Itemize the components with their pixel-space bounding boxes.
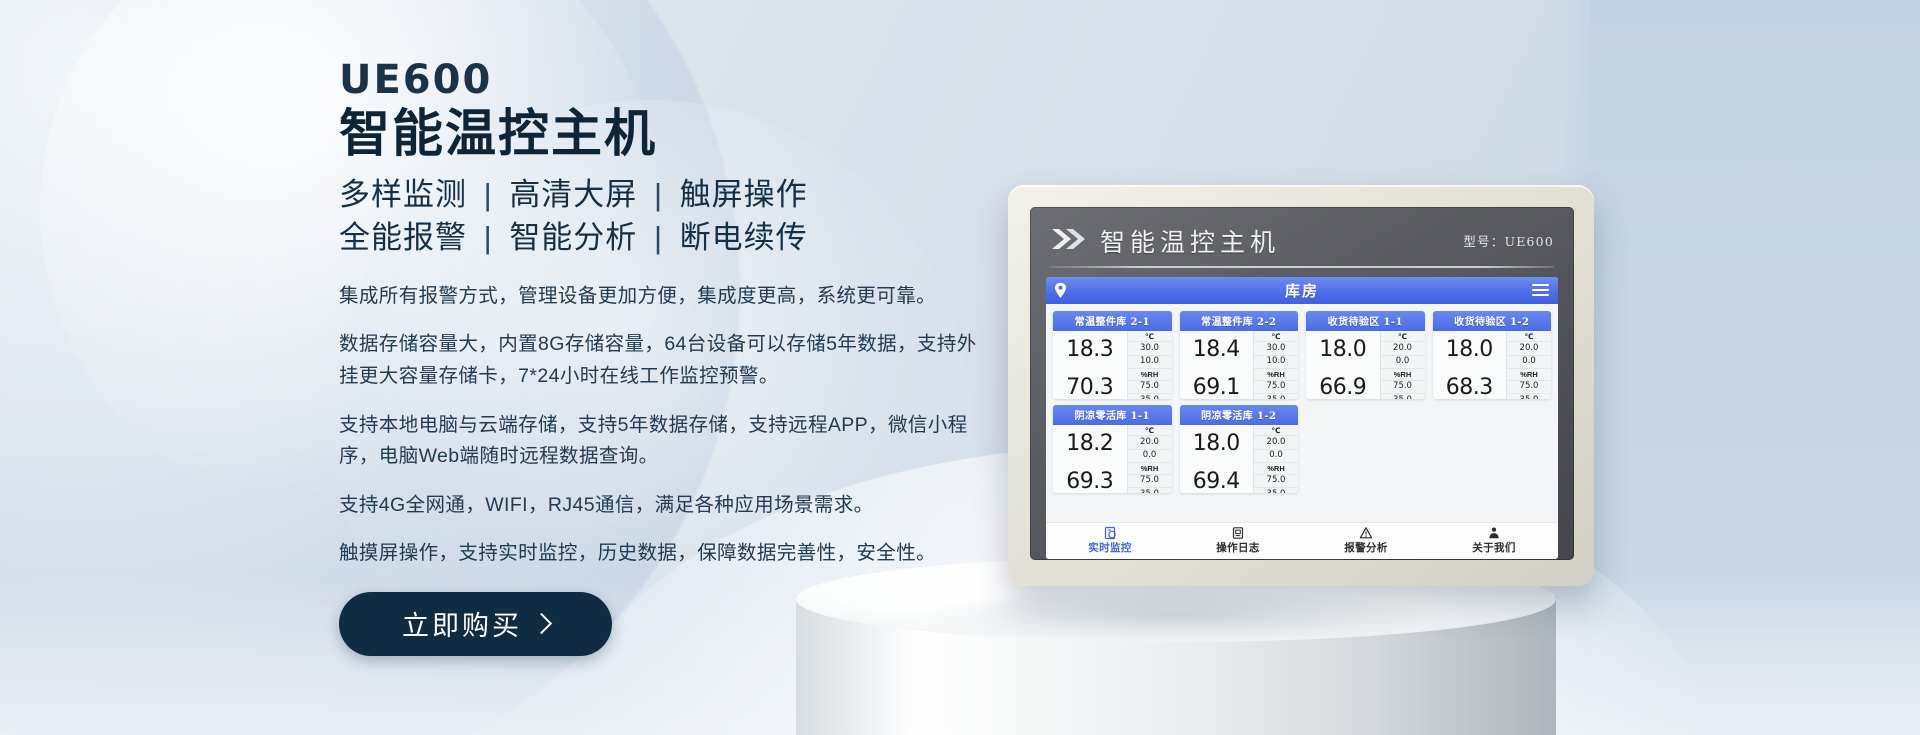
humidity-high-limit: 75.0 — [1507, 381, 1551, 394]
sensor-card-body: 18.469.1℃30.010.0%RH75.035.0 — [1180, 331, 1299, 399]
feature-separator: | — [477, 177, 500, 212]
copy-block: UE600 智能温控主机 多样监测 | 高清大屏 | 触屏操作 全能报警 | 智… — [339, 60, 1019, 656]
humidity-unit: %RH — [1381, 369, 1425, 380]
sensor-readings: 18.469.1 — [1180, 331, 1254, 399]
device-brand-title: 智能温控主机 — [1100, 223, 1280, 259]
sensor-card-body: 18.269.3℃20.00.0%RH75.035.0 — [1053, 425, 1172, 493]
sensor-card[interactable]: 常温整件库 2-118.370.3℃30.010.0%RH75.035.011-… — [1053, 311, 1172, 399]
temperature-unit: ℃ — [1128, 425, 1172, 436]
humidity-unit: %RH — [1507, 369, 1551, 380]
feature-separator: | — [647, 220, 670, 255]
humidity-low-limit: 35.0 — [1254, 488, 1298, 492]
sensor-card[interactable]: 收货待验区 1-118.066.9℃20.00.0%RH75.035.011-0… — [1306, 311, 1425, 399]
app-bar: 库房 — [1046, 277, 1558, 304]
temperature-unit: ℃ — [1254, 425, 1298, 436]
temperature-value: 18.3 — [1053, 331, 1127, 369]
sensor-limits: ℃20.00.0%RH75.035.0 — [1253, 425, 1298, 493]
humidity-high-limit: 75.0 — [1254, 381, 1298, 394]
sensor-limits: ℃20.00.0%RH75.035.0 — [1127, 425, 1172, 493]
humidity-value: 69.3 — [1053, 463, 1127, 493]
description-list: 集成所有报警方式，管理设备更加方便，集成度更高，系统更可靠。 数据存储容量大，内… — [339, 281, 1019, 570]
device-model-label: 型号： — [1463, 234, 1504, 249]
tab-label: 实时监控 — [1088, 540, 1132, 555]
chevron-right-icon — [531, 613, 552, 634]
humidity-low-limit: 35.0 — [1507, 394, 1551, 398]
device-model-value: UE600 — [1504, 234, 1554, 249]
temperature-high-limit: 30.0 — [1128, 342, 1172, 355]
humidity-high-limit: 75.0 — [1381, 381, 1425, 394]
sensor-limits: ℃20.00.0%RH75.035.0 — [1506, 331, 1551, 399]
sensor-card-body: 18.068.3℃20.00.0%RH75.035.0 — [1433, 331, 1552, 399]
humidity-low-limit: 35.0 — [1128, 488, 1172, 492]
temperature-unit: ℃ — [1507, 331, 1551, 342]
temperature-unit: ℃ — [1381, 331, 1425, 342]
buy-now-button[interactable]: 立即购买 — [339, 592, 612, 656]
tab-label: 操作日志 — [1216, 540, 1260, 555]
temperature-low-limit: 0.0 — [1381, 356, 1425, 369]
location-pin-icon — [1054, 282, 1067, 299]
humidity-unit: %RH — [1128, 463, 1172, 474]
buy-now-button-label: 立即购买 — [402, 604, 522, 643]
sensor-readings: 18.068.3 — [1433, 331, 1507, 399]
list-menu-icon[interactable] — [1532, 284, 1549, 297]
sensor-card[interactable]: 收货待验区 1-218.068.3℃20.00.0%RH75.035.011-0… — [1433, 311, 1552, 399]
feature-separator: | — [647, 177, 670, 212]
monitor-icon — [1103, 526, 1117, 539]
humidity-high-limit: 75.0 — [1128, 475, 1172, 488]
device-header: 智能温控主机 型号：UE600 — [1046, 221, 1558, 259]
humidity-low-limit: 35.0 — [1381, 394, 1425, 398]
log-book-icon — [1231, 526, 1245, 539]
temperature-high-limit: 20.0 — [1254, 436, 1298, 449]
sensor-card-title: 阴凉零活库 1-2 — [1180, 405, 1299, 426]
humidity-unit: %RH — [1254, 369, 1298, 380]
humidity-high-limit: 75.0 — [1128, 381, 1172, 394]
device-model: 型号：UE600 — [1463, 231, 1554, 250]
feature-item: 高清大屏 — [509, 177, 637, 212]
humidity-value: 68.3 — [1433, 369, 1507, 399]
sensor-card-title: 常温整件库 2-1 — [1053, 311, 1172, 332]
humidity-unit: %RH — [1254, 463, 1298, 474]
sensor-card[interactable]: 阴凉零活库 1-118.269.3℃20.00.0%RH75.035.011-0… — [1053, 405, 1172, 493]
humidity-value: 66.9 — [1306, 369, 1380, 399]
feature-item: 多样监测 — [339, 177, 467, 212]
sensor-readings: 18.370.3 — [1053, 331, 1127, 399]
tab-1[interactable]: 实时监控 — [1046, 526, 1174, 555]
humidity-low-limit: 35.0 — [1254, 394, 1298, 398]
description-item: 触摸屏操作，支持实时监控，历史数据，保障数据完善性，安全性。 — [339, 538, 984, 570]
sensor-card-title: 收货待验区 1-1 — [1306, 311, 1425, 332]
temperature-value: 18.0 — [1180, 425, 1254, 463]
sensor-card-body: 18.066.9℃20.00.0%RH75.035.0 — [1306, 331, 1425, 399]
temperature-low-limit: 10.0 — [1254, 356, 1298, 369]
product-banner: UE600 智能温控主机 多样监测 | 高清大屏 | 触屏操作 全能报警 | 智… — [0, 0, 1920, 735]
sensor-limits: ℃30.010.0%RH75.035.0 — [1127, 331, 1172, 399]
humidity-value: 70.3 — [1053, 369, 1127, 399]
temperature-value: 18.0 — [1433, 331, 1507, 369]
feature-item: 断电续传 — [680, 220, 808, 255]
humidity-high-limit: 75.0 — [1254, 475, 1298, 488]
model-name: UE600 — [339, 60, 1019, 100]
person-icon — [1487, 526, 1501, 539]
sensor-card-title: 阴凉零活库 1-1 — [1053, 405, 1172, 426]
sensor-limits: ℃20.00.0%RH75.035.0 — [1380, 331, 1425, 399]
temperature-value: 18.4 — [1180, 331, 1254, 369]
temperature-low-limit: 10.0 — [1128, 356, 1172, 369]
description-item: 支持4G全网通，WIFI，RJ45通信，满足各种应用场景需求。 — [339, 490, 984, 522]
humidity-value: 69.1 — [1180, 369, 1254, 399]
temperature-high-limit: 30.0 — [1254, 342, 1298, 355]
humidity-value: 69.4 — [1180, 463, 1254, 493]
device-brand: 智能温控主机 — [1050, 223, 1280, 259]
sensor-card-body: 18.069.4℃20.00.0%RH75.035.0 — [1180, 425, 1299, 493]
temperature-unit: ℃ — [1128, 331, 1172, 342]
temperature-low-limit: 0.0 — [1128, 450, 1172, 463]
temperature-value: 18.2 — [1053, 425, 1127, 463]
sensor-card-body: 18.370.3℃30.010.0%RH75.035.0 — [1053, 331, 1172, 399]
description-item: 集成所有报警方式，管理设备更加方便，集成度更高，系统更可靠。 — [339, 281, 984, 313]
sensor-readings: 18.269.3 — [1053, 425, 1127, 493]
temperature-high-limit: 20.0 — [1128, 436, 1172, 449]
tab-label: 关于我们 — [1472, 540, 1516, 555]
sensor-card-grid: 常温整件库 2-118.370.3℃30.010.0%RH75.035.011-… — [1046, 304, 1558, 522]
feature-item: 全能报警 — [339, 220, 467, 255]
tab-3[interactable]: 报警分析 — [1302, 526, 1430, 555]
sensor-readings: 18.069.4 — [1180, 425, 1254, 493]
tab-2[interactable]: 操作日志 — [1174, 526, 1302, 555]
humidity-low-limit: 35.0 — [1128, 394, 1172, 398]
device-screen: 智能温控主机 型号：UE600 库房 — [1030, 207, 1574, 560]
temperature-unit: ℃ — [1254, 331, 1298, 342]
sensor-card-title: 收货待验区 1-2 — [1433, 311, 1552, 332]
sensor-readings: 18.066.9 — [1306, 331, 1380, 399]
description-item: 支持本地电脑与云端存储，支持5年数据存储，支持远程APP，微信小程序，电脑Web… — [339, 410, 984, 473]
sensor-card[interactable]: 阴凉零活库 1-218.069.4℃20.00.0%RH75.035.011-0… — [1180, 405, 1299, 493]
page-title: 智能温控主机 — [339, 106, 1019, 161]
double-chevron-icon — [1050, 226, 1090, 257]
feature-line-1: 多样监测 | 高清大屏 | 触屏操作 — [339, 175, 1019, 216]
device-app: 库房 常温整件库 2-118.370.3℃30.010.0%RH75.035.0… — [1046, 277, 1558, 559]
feature-separator: | — [477, 220, 500, 255]
temperature-low-limit: 0.0 — [1254, 450, 1298, 463]
feature-line-2: 全能报警 | 智能分析 | 断电续传 — [339, 218, 1019, 259]
feature-item: 智能分析 — [509, 220, 637, 255]
sensor-limits: ℃30.010.0%RH75.035.0 — [1253, 331, 1298, 399]
device-frame: 智能温控主机 型号：UE600 库房 — [1008, 185, 1594, 586]
device-header-divider — [1050, 266, 1554, 268]
sensor-card-title: 常温整件库 2-2 — [1180, 311, 1299, 332]
feature-item: 触屏操作 — [680, 177, 808, 212]
warning-triangle-icon — [1359, 526, 1373, 539]
temperature-low-limit: 0.0 — [1507, 356, 1551, 369]
temperature-value: 18.0 — [1306, 331, 1380, 369]
humidity-unit: %RH — [1128, 369, 1172, 380]
sensor-card[interactable]: 常温整件库 2-218.469.1℃30.010.0%RH75.035.011-… — [1180, 311, 1299, 399]
app-bar-title: 库房 — [1046, 280, 1558, 301]
tab-label: 报警分析 — [1344, 540, 1388, 555]
description-item: 数据存储容量大，内置8G存储容量，64台设备可以存储5年数据，支持外挂更大容量存… — [339, 329, 984, 392]
temperature-high-limit: 20.0 — [1381, 342, 1425, 355]
tab-4[interactable]: 关于我们 — [1430, 526, 1558, 555]
tab-bar: 实时监控操作日志报警分析关于我们 — [1046, 522, 1558, 559]
temperature-high-limit: 20.0 — [1507, 342, 1551, 355]
